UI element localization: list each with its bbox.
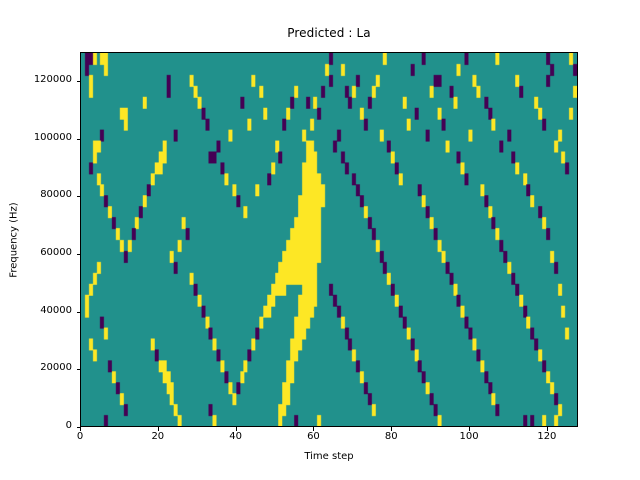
y-tick-label: 120000 <box>34 74 72 85</box>
heatmap-image <box>81 53 577 426</box>
x-tick-label: 20 <box>118 431 198 442</box>
x-tick-mark <box>80 427 81 431</box>
x-tick-mark <box>313 427 314 431</box>
x-tick-label: 80 <box>351 431 431 442</box>
y-tick-label: 60000 <box>40 247 72 258</box>
x-tick-label: 0 <box>40 431 120 442</box>
x-tick-mark <box>469 427 470 431</box>
y-tick-label: 40000 <box>40 305 72 316</box>
chart-title: Predicted : La <box>80 26 578 40</box>
y-tick-label: 20000 <box>40 362 72 373</box>
y-axis-label: Frequency (Hz) <box>9 202 20 277</box>
x-axis-label: Time step <box>80 451 578 462</box>
y-tick-label: 0 <box>66 420 72 431</box>
x-tick-mark <box>391 427 392 431</box>
x-tick-mark <box>547 427 548 431</box>
x-tick-mark <box>158 427 159 431</box>
matplotlib-figure: Predicted : La Frequency (Hz) Time step … <box>0 0 640 480</box>
y-tick-label: 100000 <box>34 132 72 143</box>
x-tick-mark <box>236 427 237 431</box>
y-tick-label: 80000 <box>40 189 72 200</box>
heatmap-axes[interactable] <box>80 52 578 427</box>
x-tick-label: 100 <box>429 431 509 442</box>
x-tick-label: 60 <box>273 431 353 442</box>
x-tick-label: 40 <box>196 431 276 442</box>
x-tick-label: 120 <box>507 431 587 442</box>
